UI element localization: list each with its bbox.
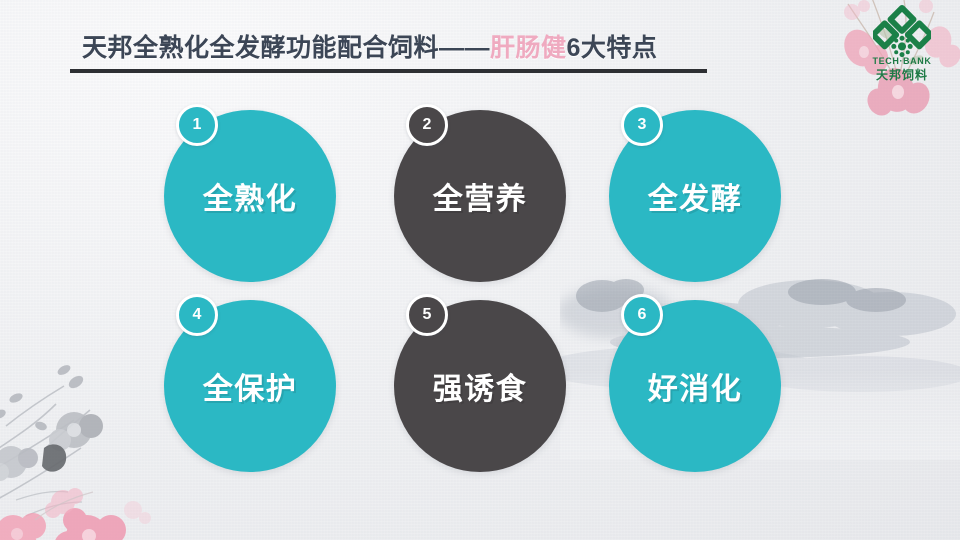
feature-badge-4: 4 [176, 294, 218, 336]
feature-badge-2: 2 [406, 104, 448, 146]
feature-badge-1: 1 [176, 104, 218, 146]
feature-label-6: 好消化 [648, 364, 743, 408]
title-underline-rule [70, 69, 707, 73]
pink-blossom-decoration-bottom-left [0, 440, 195, 540]
feature-label-1: 全熟化 [203, 174, 298, 218]
feature-bubble-6[interactable]: 6 好消化 [609, 300, 781, 472]
logo-chinese-text: 天邦饲料 [850, 66, 954, 83]
feature-bubble-5[interactable]: 5 强诱食 [394, 300, 566, 472]
feature-bubble-1[interactable]: 1 全熟化 [164, 110, 336, 282]
feature-number-3: 3 [638, 116, 647, 134]
feature-label-4: 全保护 [203, 364, 298, 408]
feature-number-6: 6 [638, 306, 647, 324]
slide-header: 天邦全熟化全发酵功能配合饲料——肝肠健6大特点 [0, 0, 960, 90]
feature-badge-6: 6 [621, 294, 663, 336]
feature-number-1: 1 [193, 116, 202, 134]
ink-branch-decoration [0, 330, 176, 530]
feature-number-4: 4 [193, 306, 202, 324]
feature-label-2: 全营养 [433, 174, 528, 218]
feature-number-2: 2 [423, 116, 432, 134]
slide-canvas: 天邦全熟化全发酵功能配合饲料——肝肠健6大特点 TECH·BANK [0, 0, 960, 540]
logo-english-text: TECH·BANK [850, 56, 954, 66]
feature-bubble-2[interactable]: 2 全营养 [394, 110, 566, 282]
feature-label-3: 全发酵 [648, 174, 743, 218]
feature-label-5: 强诱食 [433, 364, 528, 408]
feature-bubble-3[interactable]: 3 全发酵 [609, 110, 781, 282]
feature-bubble-4[interactable]: 4 全保护 [164, 300, 336, 472]
page-title-part-1: 天邦全熟化全发酵功能配合饲料—— [82, 34, 490, 62]
feature-number-5: 5 [423, 306, 432, 324]
feature-badge-5: 5 [406, 294, 448, 336]
page-title-part-2: 6大特点 [567, 34, 658, 62]
trefoil-clover-icon [873, 4, 931, 58]
page-title: 天邦全熟化全发酵功能配合饲料——肝肠健6大特点 [82, 28, 657, 64]
page-title-highlight: 肝肠健 [490, 34, 567, 62]
brand-logo: TECH·BANK 天邦饲料 [850, 4, 954, 82]
feature-badge-3: 3 [621, 104, 663, 146]
